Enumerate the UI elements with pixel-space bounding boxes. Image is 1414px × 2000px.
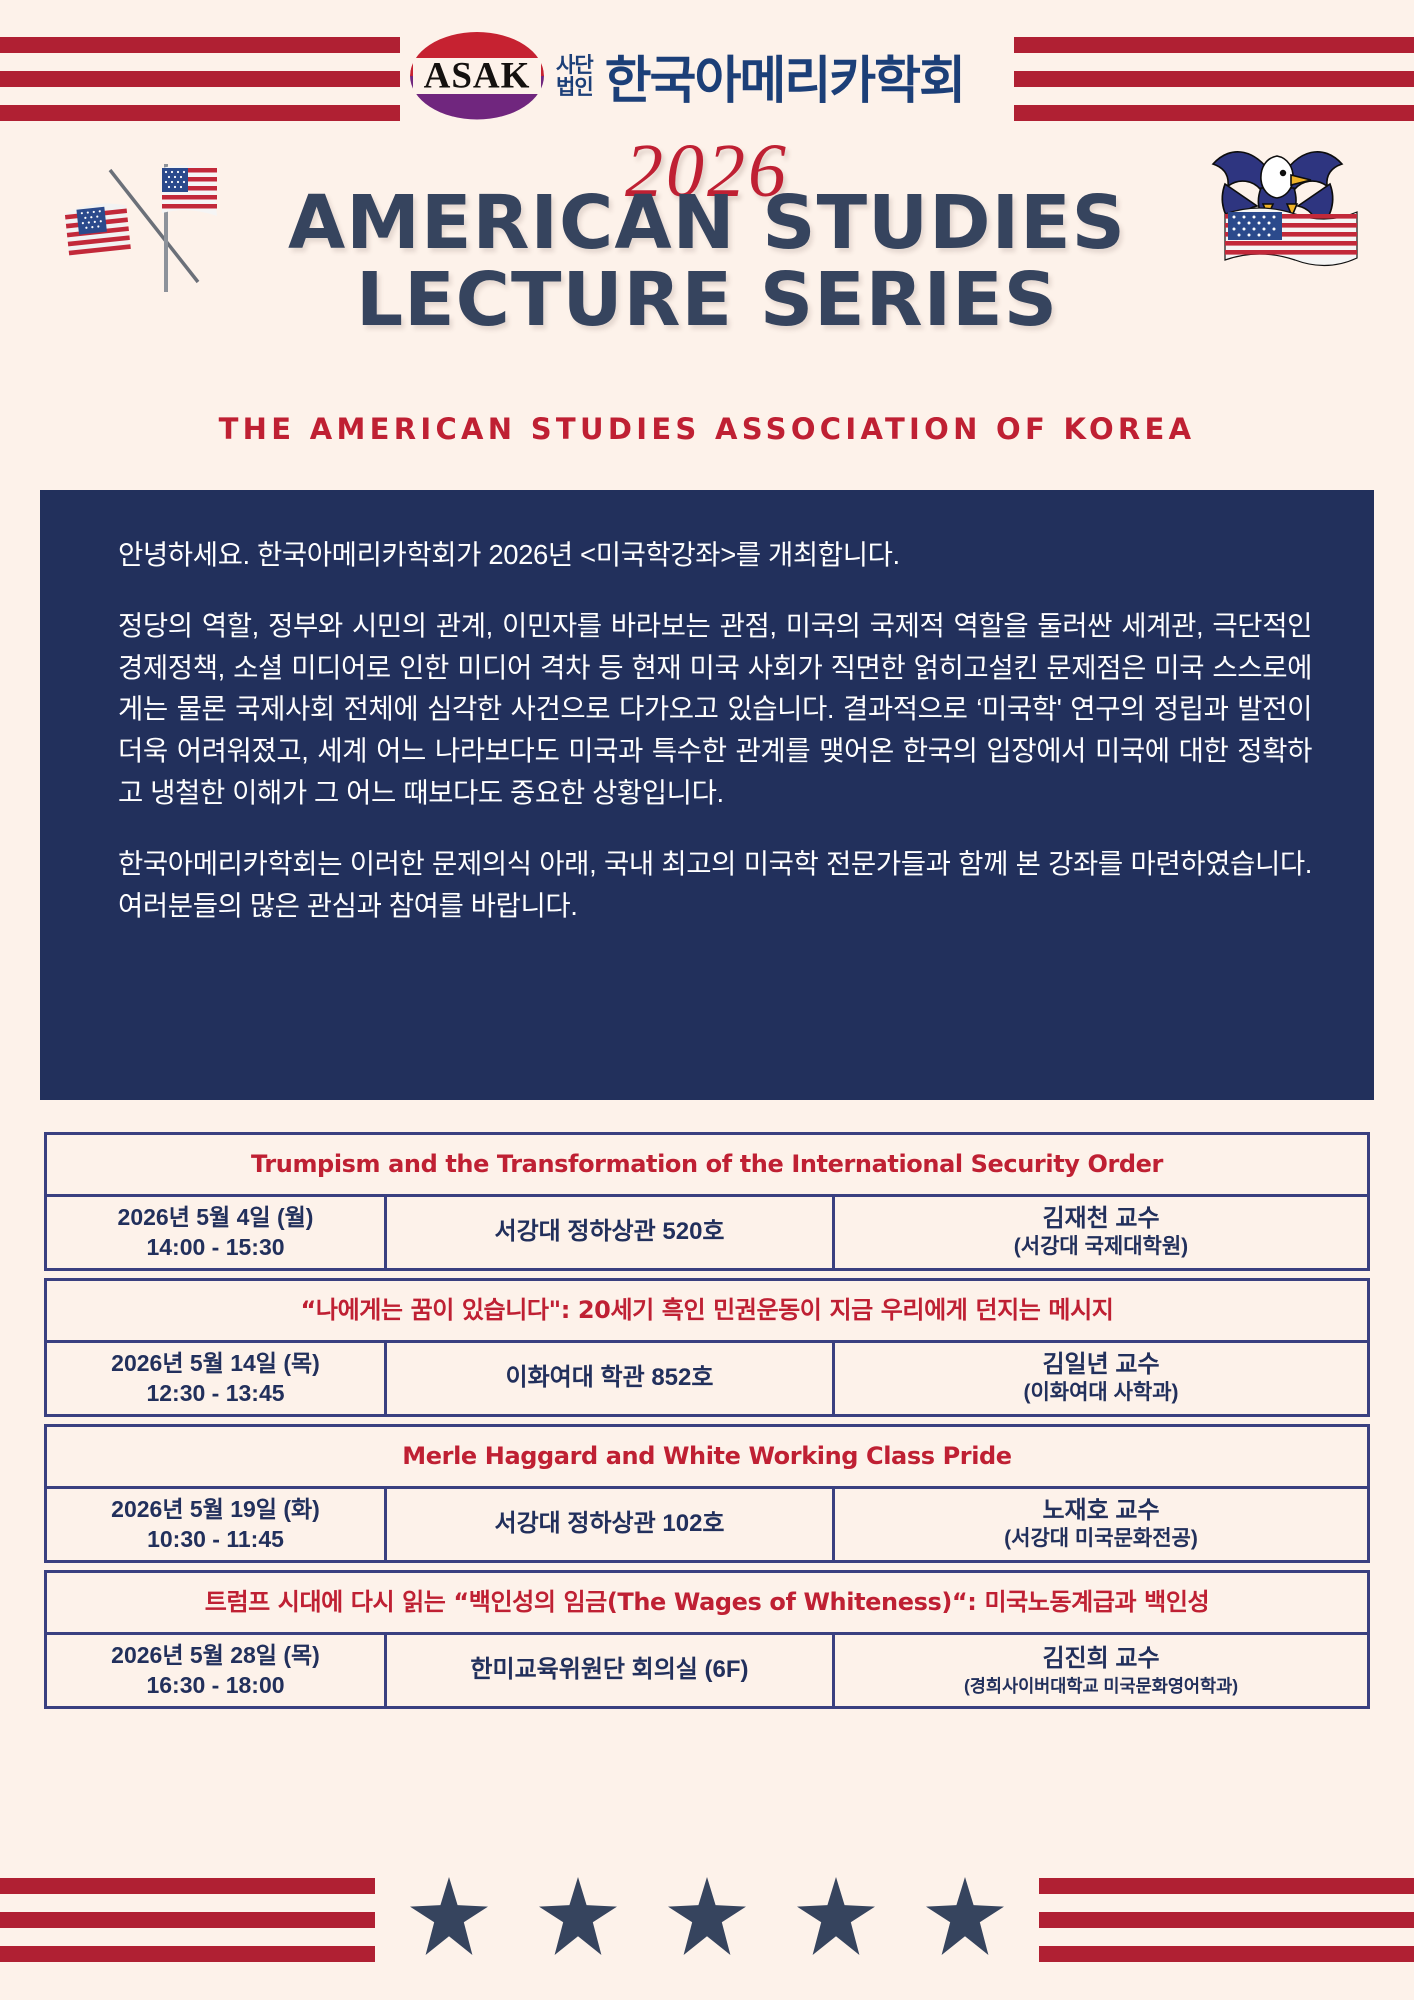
session-venue-cell: 서강대 정하상관 520호 bbox=[387, 1197, 835, 1268]
session-title-row: Trumpism and the Transformation of the I… bbox=[44, 1132, 1370, 1194]
session-title: Merle Haggard and White Working Class Pr… bbox=[402, 1443, 1011, 1469]
stripe bbox=[1014, 37, 1414, 53]
stripe bbox=[1039, 1946, 1414, 1962]
session-datetime-cell: 2026년 5월 4일 (월) 14:00 - 15:30 bbox=[47, 1197, 387, 1268]
top-right-stripes bbox=[1014, 37, 1414, 121]
star-icon bbox=[926, 1876, 1004, 1956]
schedule-table: Trumpism and the Transformation of the I… bbox=[44, 1132, 1370, 1716]
star-icon bbox=[410, 1876, 488, 1956]
intro-paragraph: 정당의 역할, 정부와 시민의 관계, 이민자를 바라보는 관점, 미국의 국제… bbox=[118, 605, 1312, 814]
poster-root: ASAK 사단 법인 한국아메리카학회 bbox=[0, 0, 1414, 2000]
stripe bbox=[1014, 105, 1414, 121]
speaker-name: 김진희 교수 bbox=[1042, 1644, 1159, 1675]
stripe bbox=[1014, 71, 1414, 87]
session-venue: 이화여대 학관 852호 bbox=[506, 1363, 714, 1394]
session-title-row: 트럼프 시대에 다시 읽는 “백인성의 임금(The Wages of Whit… bbox=[44, 1570, 1370, 1632]
bottom-decor-band bbox=[0, 1860, 1414, 2000]
session-time: 10:30 - 11:45 bbox=[147, 1525, 284, 1554]
logo-prefix-line2: 법인 bbox=[556, 77, 593, 99]
speaker-affiliation: (경희사이버대학교 미국문화영어학과) bbox=[964, 1675, 1238, 1697]
title-line-1: AMERICAN STUDIES bbox=[288, 180, 1126, 266]
star-icon bbox=[539, 1876, 617, 1956]
top-left-stripes bbox=[0, 37, 400, 121]
session-venue-cell: 서강대 정하상관 102호 bbox=[387, 1489, 835, 1560]
speaker-name: 김재천 교수 bbox=[1042, 1204, 1159, 1235]
session-title: “나에게는 꿈이 있습니다": 20세기 흑인 민권운동이 지금 우리에게 던지… bbox=[301, 1297, 1114, 1323]
logo-prefix-line1: 사단 bbox=[556, 55, 593, 77]
title-line-2: LECTURE SERIES bbox=[0, 265, 1414, 336]
session-date: 2026년 5월 19일 (화) bbox=[111, 1495, 320, 1524]
speaker-affiliation: (서강대 미국문화전공) bbox=[1004, 1526, 1198, 1553]
stripe bbox=[0, 1946, 375, 1962]
intro-paragraph: 안녕하세요. 한국아메리카학회가 2026년 <미국학강좌>를 개최합니다. bbox=[118, 534, 1312, 576]
session-speaker-cell: 김일년 교수 (이화여대 사학과) bbox=[835, 1343, 1367, 1414]
session-speaker-cell: 김진희 교수 (경희사이버대학교 미국문화영어학과) bbox=[835, 1635, 1367, 1706]
asak-wordmark: ASAK bbox=[424, 54, 531, 97]
speaker-affiliation: (이화여대 사학과) bbox=[1023, 1380, 1178, 1407]
session-date: 2026년 5월 4일 (월) bbox=[118, 1203, 314, 1232]
star-icon bbox=[668, 1876, 746, 1956]
session-title-row: Merle Haggard and White Working Class Pr… bbox=[44, 1424, 1370, 1486]
session-datetime-cell: 2026년 5월 19일 (화) 10:30 - 11:45 bbox=[47, 1489, 387, 1560]
stripe bbox=[0, 105, 400, 121]
stripe bbox=[1039, 1912, 1414, 1928]
table-row: 2026년 5월 4일 (월) 14:00 - 15:30 서강대 정하상관 5… bbox=[44, 1194, 1370, 1271]
intro-paragraph: 한국아메리카학회는 이러한 문제의식 아래, 국내 최고의 미국학 전문가들과 … bbox=[118, 843, 1312, 927]
session-title: 트럼프 시대에 다시 읽는 “백인성의 임금(The Wages of Whit… bbox=[205, 1589, 1209, 1615]
page-subtitle: THE AMERICAN STUDIES ASSOCIATION OF KORE… bbox=[0, 412, 1414, 446]
speaker-affiliation: (서강대 국제대학원) bbox=[1014, 1234, 1188, 1261]
stripe bbox=[0, 37, 400, 53]
table-row: 2026년 5월 19일 (화) 10:30 - 11:45 서강대 정하상관 … bbox=[44, 1486, 1370, 1563]
table-row: 2026년 5월 28일 (목) 16:30 - 18:00 한미교육위원단 회… bbox=[44, 1632, 1370, 1709]
session-venue: 서강대 정하상관 520호 bbox=[494, 1217, 724, 1248]
top-decor-band: ASAK 사단 법인 한국아메리카학회 bbox=[0, 0, 1414, 140]
session-speaker-cell: 노재호 교수 (서강대 미국문화전공) bbox=[835, 1489, 1367, 1560]
asak-logo: ASAK 사단 법인 한국아메리카학회 bbox=[410, 28, 1010, 123]
session-venue-cell: 한미교육위원단 회의실 (6F) bbox=[387, 1635, 835, 1706]
stripe bbox=[0, 1912, 375, 1928]
table-row: 2026년 5월 14일 (목) 12:30 - 13:45 이화여대 학관 8… bbox=[44, 1340, 1370, 1417]
session-datetime-cell: 2026년 5월 28일 (목) 16:30 - 18:00 bbox=[47, 1635, 387, 1706]
session-time: 16:30 - 18:00 bbox=[146, 1671, 284, 1700]
session-time: 14:00 - 15:30 bbox=[146, 1233, 284, 1262]
intro-text-box: 안녕하세요. 한국아메리카학회가 2026년 <미국학강좌>를 개최합니다. 정… bbox=[40, 490, 1374, 1100]
star-row bbox=[400, 1856, 1014, 1976]
bottom-left-stripes bbox=[0, 1878, 375, 1962]
session-datetime-cell: 2026년 5월 14일 (목) 12:30 - 13:45 bbox=[47, 1343, 387, 1414]
stripe bbox=[0, 71, 400, 87]
asak-mark-icon: ASAK bbox=[410, 32, 544, 120]
session-venue: 한미교육위원단 회의실 (6F) bbox=[470, 1655, 748, 1686]
session-date: 2026년 5월 14일 (목) bbox=[111, 1349, 320, 1378]
session-date: 2026년 5월 28일 (목) bbox=[111, 1641, 320, 1670]
logo-prefix: 사단 법인 bbox=[556, 52, 593, 98]
session-time: 12:30 - 13:45 bbox=[146, 1379, 284, 1408]
session-speaker-cell: 김재천 교수 (서강대 국제대학원) bbox=[835, 1197, 1367, 1268]
session-venue-cell: 이화여대 학관 852호 bbox=[387, 1343, 835, 1414]
speaker-name: 김일년 교수 bbox=[1042, 1350, 1159, 1381]
speaker-name: 노재호 교수 bbox=[1042, 1496, 1159, 1527]
organization-name-ko: 한국아메리카학회 bbox=[605, 39, 964, 113]
session-venue: 서강대 정하상관 102호 bbox=[494, 1509, 724, 1540]
page-title: AMERICAN STUDIES LECTURE SERIES bbox=[0, 188, 1414, 336]
session-title-row: “나에게는 꿈이 있습니다": 20세기 흑인 민권운동이 지금 우리에게 던지… bbox=[44, 1278, 1370, 1340]
stripe bbox=[1039, 1878, 1414, 1894]
stripe bbox=[0, 1878, 375, 1894]
session-title: Trumpism and the Transformation of the I… bbox=[251, 1151, 1163, 1177]
bottom-right-stripes bbox=[1039, 1878, 1414, 1962]
star-icon bbox=[797, 1876, 875, 1956]
